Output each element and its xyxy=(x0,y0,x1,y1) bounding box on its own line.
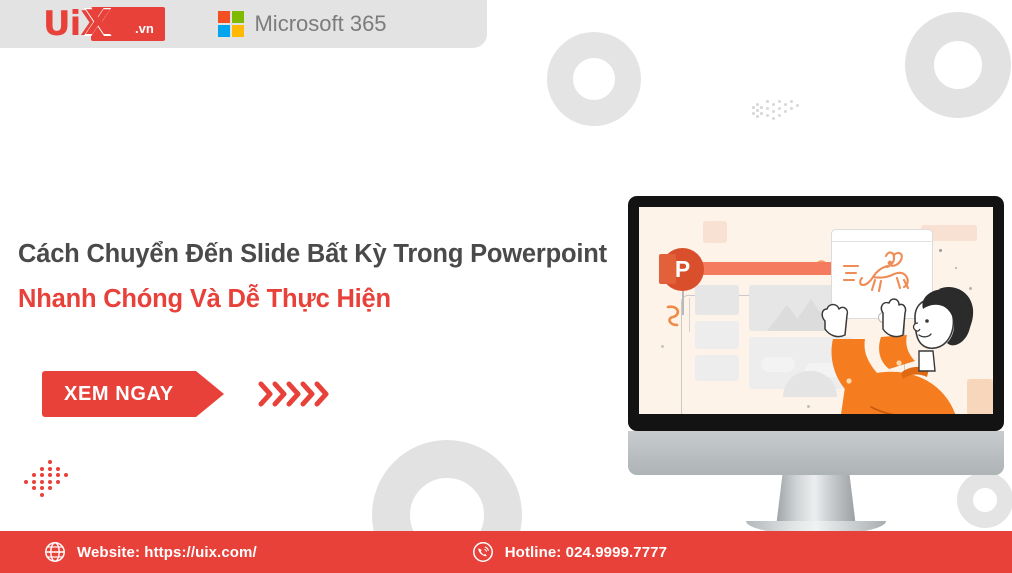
decor-ring-bottom-right xyxy=(957,472,1012,528)
monitor-screen: P xyxy=(639,207,993,414)
decor-dot xyxy=(760,106,763,109)
card-connector-line xyxy=(689,298,690,332)
footer-hotline[interactable]: Hotline: 024.9999.7777 xyxy=(472,541,667,563)
xem-ngay-button[interactable]: XEM NGAY xyxy=(42,371,224,417)
chevron-row-icon xyxy=(258,381,331,407)
monitor-chin xyxy=(628,431,1004,475)
brand-bar: UiX X X .vn Microsoft 365 xyxy=(0,0,487,48)
decor-dot xyxy=(48,467,52,471)
footer-website[interactable]: Website: https://uix.com/ xyxy=(44,541,257,563)
slide-thumb xyxy=(695,321,739,349)
chevron-right-icon xyxy=(314,381,331,407)
decor-dot xyxy=(766,114,769,117)
decor-dot xyxy=(56,473,60,477)
phone-icon xyxy=(472,541,494,563)
decor-dot xyxy=(56,467,60,471)
decor-dot xyxy=(48,486,52,490)
headline-line-2: Nhanh Chóng Và Dễ Thực Hiện xyxy=(18,281,638,317)
monitor-stand-neck xyxy=(776,475,856,527)
decor-dot xyxy=(48,473,52,477)
microsoft-365-label: Microsoft 365 xyxy=(254,11,386,37)
decor-dot xyxy=(32,480,36,484)
decor-dot xyxy=(48,480,52,484)
decor-speck xyxy=(955,267,957,269)
decor-dot xyxy=(40,486,44,490)
decor-speck xyxy=(661,345,664,348)
decor-dot xyxy=(756,115,759,118)
decor-dot xyxy=(756,103,759,106)
person-illustration xyxy=(819,277,993,414)
slide-thumb xyxy=(695,355,739,381)
decor-dot xyxy=(56,480,60,484)
footer-website-label: Website: https://uix.com/ xyxy=(77,544,257,561)
decor-dot xyxy=(796,104,799,107)
decor-dot xyxy=(24,480,28,484)
decor-dot xyxy=(772,110,775,113)
decor-dot xyxy=(752,106,755,109)
monitor-bezel: P xyxy=(628,196,1004,431)
ppt-connector-line xyxy=(682,291,684,315)
logo-tld: .vn xyxy=(135,21,154,36)
headline-block: Cách Chuyển Đến Slide Bất Kỳ Trong Power… xyxy=(18,236,638,317)
globe-icon xyxy=(44,541,66,563)
contact-footer: Website: https://uix.com/ Hotline: 024.9… xyxy=(0,531,1012,573)
powerpoint-letter: P xyxy=(675,256,690,283)
slide-thumb xyxy=(695,285,739,315)
decor-dot xyxy=(40,493,44,497)
decor-dot xyxy=(790,107,793,110)
decor-dot xyxy=(760,112,763,115)
decor-dot xyxy=(40,480,44,484)
decor-dot xyxy=(778,114,781,117)
logo-x-glyph: X xyxy=(85,6,111,40)
decor-dot xyxy=(772,103,775,106)
decor-dot xyxy=(778,107,781,110)
decor-dot xyxy=(778,100,781,103)
decor-dot xyxy=(32,473,36,477)
microsoft-365-logo[interactable]: Microsoft 365 xyxy=(218,11,386,37)
decor-dot xyxy=(784,103,787,106)
decor-dot xyxy=(752,112,755,115)
decor-ring-top-right xyxy=(905,12,1011,118)
decor-dot xyxy=(772,117,775,120)
headline-line-1: Cách Chuyển Đến Slide Bất Kỳ Trong Power… xyxy=(18,236,638,272)
decor-dot xyxy=(784,110,787,113)
cta-label: XEM NGAY xyxy=(64,383,174,406)
decor-dot xyxy=(766,100,769,103)
decor-dot xyxy=(766,107,769,110)
microsoft-squares-icon xyxy=(218,11,244,37)
uix-logo[interactable]: UiX X X .vn xyxy=(43,6,105,42)
card-titlebar xyxy=(832,230,932,242)
banner-canvas: UiX X X .vn Microsoft 365 Cách Chuyển Đế… xyxy=(0,0,1012,573)
powerpoint-icon: P xyxy=(661,248,704,291)
decor-blob-1 xyxy=(703,221,727,243)
decor-dot xyxy=(32,486,36,490)
decor-speck xyxy=(939,249,942,252)
decor-dot xyxy=(756,109,759,112)
cta-group: XEM NGAY xyxy=(42,371,331,417)
decor-dot xyxy=(64,473,68,477)
decor-ring-top-left xyxy=(547,32,641,126)
decor-dot xyxy=(48,460,52,464)
decor-dot xyxy=(40,467,44,471)
cta-arrow-tip xyxy=(196,371,224,417)
monitor-illustration: P xyxy=(628,196,1004,431)
decor-dot xyxy=(790,100,793,103)
decor-dot xyxy=(40,473,44,477)
footer-hotline-label: Hotline: 024.9999.7777 xyxy=(505,544,667,561)
